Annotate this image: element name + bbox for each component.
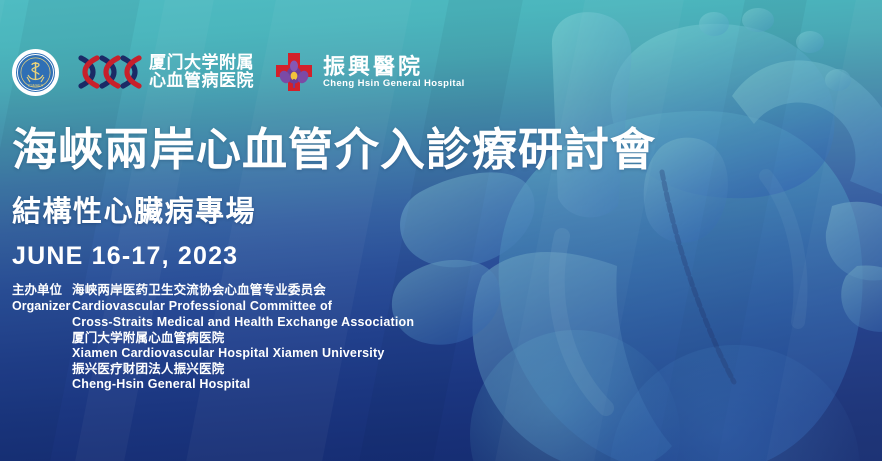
cheng-hsin-chinese-name: 振興醫院: [323, 55, 465, 78]
conference-banner: CSMHEA 厦门大学附属 心血管病医院: [0, 0, 882, 461]
heart-glow-left: [470, 330, 680, 461]
organizer-line-4: Xiamen Cardiovascular Hospital Xiamen Un…: [72, 346, 414, 362]
orchid-emblem-icon: [278, 61, 311, 88]
heart-glow-right: [610, 345, 860, 461]
logo-association-seal[interactable]: CSMHEA: [12, 49, 59, 96]
organizer-secondary-lines: Cross-Straits Medical and Health Exchang…: [72, 315, 414, 393]
dna-helix-icon: [77, 52, 143, 92]
cheng-hsin-english-name: Cheng Hsin General Hospital: [323, 79, 465, 89]
organizer-line-3: 厦门大学附属心血管病医院: [72, 331, 414, 347]
svg-text:CSMHEA: CSMHEA: [28, 83, 44, 87]
logo-xiamen-cardiovascular-hospital[interactable]: 厦门大学附属 心血管病医院: [77, 52, 254, 92]
logo-cheng-hsin-general-hospital[interactable]: 振興醫院 Cheng Hsin General Hospital: [272, 51, 465, 93]
seal-inner-disc: CSMHEA: [15, 52, 56, 93]
organizer-labels: 主办单位 Organizer: [12, 283, 72, 314]
seal-emblem-icon: CSMHEA: [16, 53, 55, 92]
sponsor-logo-row: CSMHEA 厦门大学附属 心血管病医院: [12, 48, 465, 96]
organizer-primary-lines: 海峡两岸医药卫生交流协会心血管专业委员会 Cardiovascular Prof…: [72, 283, 332, 314]
cheng-hsin-wordmark: 振興醫院 Cheng Hsin General Hospital: [323, 55, 465, 89]
xiamen-hospital-wordmark: 厦门大学附属 心血管病医院: [149, 54, 254, 91]
banner-title: 海峽兩岸心血管介入診療研討會: [12, 113, 656, 178]
red-cross-icon: [272, 51, 316, 93]
organizer-line-1: Cardiovascular Professional Committee of: [72, 299, 332, 315]
organizer-block: 主办单位 Organizer 海峡两岸医药卫生交流协会心血管专业委员会 Card…: [12, 283, 414, 393]
banner-subtitle: 結構性心臟病專場: [12, 188, 256, 230]
organizer-line-0: 海峡两岸医药卫生交流协会心血管专业委员会: [72, 283, 332, 299]
xiamen-hospital-line2: 心血管病医院: [149, 72, 254, 90]
organizer-label-en: Organizer: [12, 299, 72, 315]
red-cross-badge: [272, 51, 316, 93]
seal-outer-ring: CSMHEA: [12, 49, 59, 96]
event-date: JUNE 16-17, 2023: [12, 242, 238, 271]
organizer-line-2: Cross-Straits Medical and Health Exchang…: [72, 315, 414, 331]
organizer-line-5: 振兴医疗财团法人振兴医院: [72, 362, 414, 378]
xiamen-hospital-line1: 厦门大学附属: [149, 54, 254, 72]
organizer-label-cn: 主办单位: [12, 283, 72, 299]
organizer-line-6: Cheng-Hsin General Hospital: [72, 377, 414, 393]
